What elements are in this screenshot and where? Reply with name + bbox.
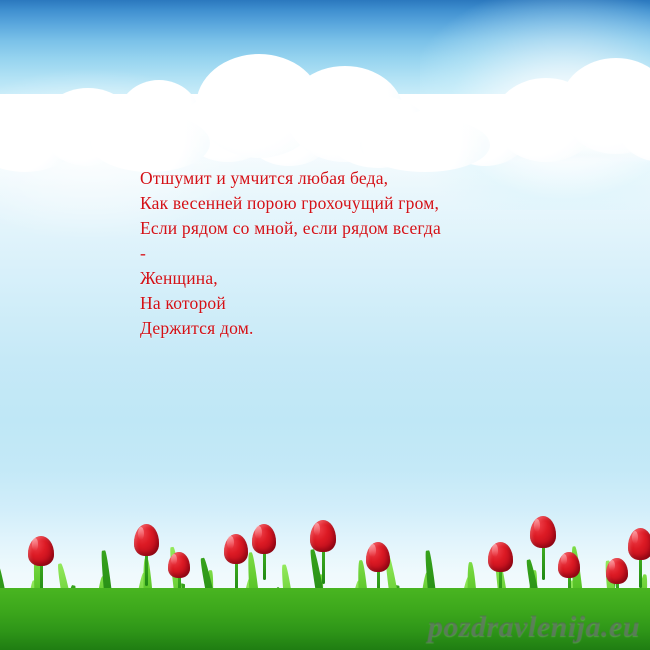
poem-line: - bbox=[140, 241, 570, 266]
tulip bbox=[252, 524, 276, 580]
tulip bbox=[530, 516, 556, 580]
tulip-bud bbox=[28, 536, 54, 566]
tulip bbox=[134, 524, 159, 586]
tulip bbox=[628, 528, 650, 588]
poem-text: Отшумит и умчится любая беда, Как весенн… bbox=[140, 166, 570, 341]
tulip-bud bbox=[134, 524, 159, 556]
cloud-fade bbox=[0, 118, 650, 164]
tulip-bud bbox=[224, 534, 248, 564]
poem-line: Отшумит и умчится любая беда, bbox=[140, 166, 570, 191]
tulip bbox=[310, 520, 336, 584]
tulip bbox=[28, 536, 54, 594]
tulip bbox=[224, 534, 248, 594]
poem-line: На которой bbox=[140, 291, 570, 316]
tulip-bud bbox=[628, 528, 650, 560]
tulip-bud bbox=[310, 520, 336, 552]
tulip-bud bbox=[168, 552, 190, 578]
poem-line: Женщина, bbox=[140, 266, 570, 291]
tulip-bud bbox=[366, 542, 390, 572]
tulip-bud bbox=[530, 516, 556, 548]
tulip-bud bbox=[558, 552, 580, 578]
tulip-bud bbox=[252, 524, 276, 554]
poem-line: Как весенней порою грохочущий гром, bbox=[140, 191, 570, 216]
greeting-card: Отшумит и умчится любая беда, Как весенн… bbox=[0, 0, 650, 650]
tulip-bud bbox=[606, 558, 628, 584]
watermark: pozdravlenija.eu bbox=[428, 610, 640, 644]
poem-line: Если рядом со мной, если рядом всегда bbox=[140, 216, 570, 241]
tulip-bud bbox=[488, 542, 513, 572]
poem-line: Держится дом. bbox=[140, 316, 570, 341]
